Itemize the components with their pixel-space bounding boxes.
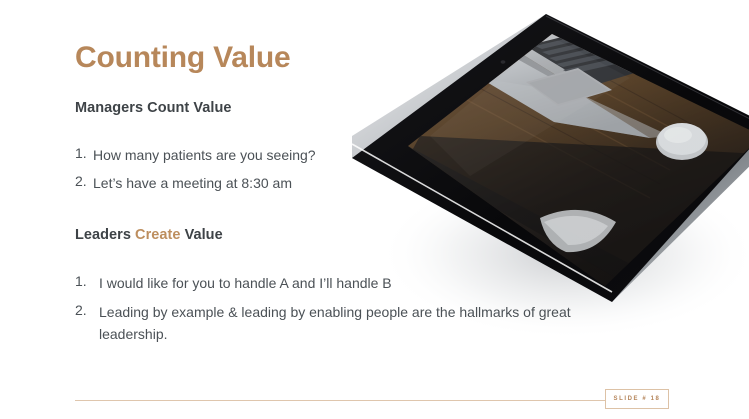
list-item: 1. I would like for you to handle A and … [75, 273, 595, 294]
list-item-text: How many patients are you seeing? [93, 145, 316, 166]
list-item-number: 1. [75, 145, 93, 161]
section-heading-leaders: Leaders Create Value [75, 227, 223, 243]
section-heading-managers-text: Managers Count Value [75, 100, 232, 116]
status-badge: SLIDE # 18 [605, 389, 669, 409]
footer-divider [75, 400, 605, 401]
list-item-number: 1. [75, 273, 99, 289]
list-item: 2. Let’s have a meeting at 8:30 am [75, 173, 316, 194]
presentation-slide: Counting Value Managers Count Value 1. H… [0, 0, 749, 419]
list-item-text: I would like for you to handle A and I’l… [99, 273, 595, 294]
slide-number-label: SLIDE # 18 [613, 396, 660, 402]
list-managers: 1. How many patients are you seeing? 2. … [75, 145, 316, 202]
section-heading-leaders-accent: Create [135, 227, 180, 243]
list-item-number: 2. [75, 173, 93, 189]
list-item: 2. Leading by example & leading by enabl… [75, 302, 595, 345]
slide-content: Counting Value Managers Count Value 1. H… [75, 0, 595, 419]
list-leaders: 1. I would like for you to handle A and … [75, 273, 595, 353]
section-heading-managers: Managers Count Value [75, 100, 232, 116]
section-heading-leaders-prefix: Leaders [75, 227, 135, 243]
list-item-text: Let’s have a meeting at 8:30 am [93, 173, 316, 194]
list-item-number: 2. [75, 302, 99, 318]
list-item: 1. How many patients are you seeing? [75, 145, 316, 166]
page-title: Counting Value [75, 41, 291, 74]
list-item-text: Leading by example & leading by enabling… [99, 302, 595, 345]
section-heading-leaders-suffix: Value [180, 227, 222, 243]
